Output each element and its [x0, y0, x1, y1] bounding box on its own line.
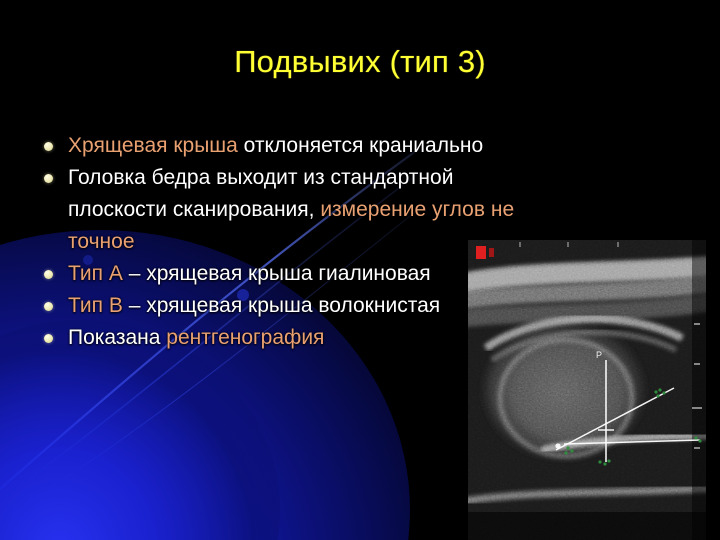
- body-text: Головка бедра выходит из стандартной: [68, 166, 453, 189]
- highlighted-text: измерение углов не: [320, 198, 514, 221]
- body-text: отклоняется краниально: [238, 134, 483, 157]
- slide-title: Подвывих (тип 3): [0, 44, 720, 80]
- highlighted-text: Тип В: [68, 294, 123, 317]
- body-text: Показана: [68, 326, 166, 349]
- bullet-item: Хрящевая крыша отклоняется краниально: [38, 131, 678, 160]
- bullet-item: Тип В – хрящевая крыша волокнистая: [38, 291, 678, 320]
- body-text: – хрящевая крыша волокнистая: [123, 294, 440, 317]
- highlighted-text: Хрящевая крыша: [68, 134, 238, 157]
- bullet-continuation-line: плоскости сканирования, измерение углов …: [38, 195, 678, 224]
- highlighted-text: рентгенография: [166, 326, 324, 349]
- body-text: плоскости сканирования,: [68, 198, 320, 221]
- bullet-continuation-line: точное: [38, 227, 678, 256]
- bullet-item: Тип А – хрящевая крыша гиалиновая: [38, 259, 678, 288]
- highlighted-text: Тип А: [68, 262, 123, 285]
- bullet-item: Показана рентгенография: [38, 323, 678, 352]
- bullet-list: Хрящевая крыша отклоняется краниальноГол…: [38, 131, 678, 355]
- presentation-slide: Подвывих (тип 3): [0, 0, 720, 540]
- bullet-item: Головка бедра выходит из стандартной: [38, 163, 678, 192]
- highlighted-text: точное: [68, 230, 135, 253]
- body-text: – хрящевая крыша гиалиновая: [123, 262, 431, 285]
